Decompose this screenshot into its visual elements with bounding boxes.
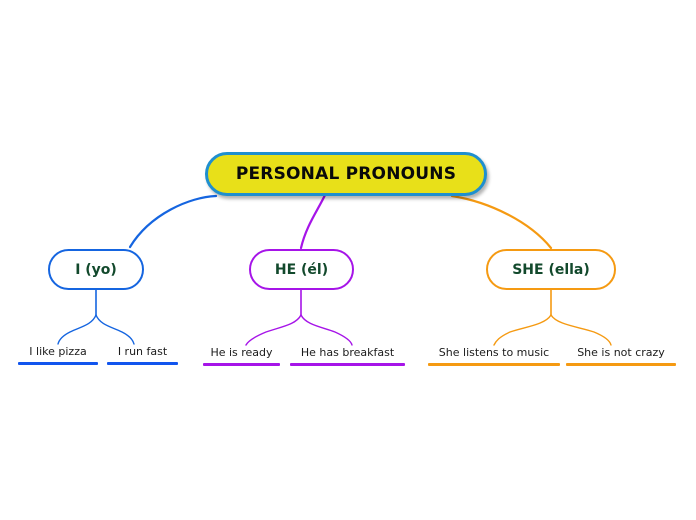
edge-root-to-he — [301, 195, 325, 248]
leaf-node-she-listens-to-music[interactable]: She listens to music — [428, 346, 560, 366]
branch-node-she[interactable]: SHE (ella) — [486, 249, 616, 290]
branch-node-i[interactable]: I (yo) — [48, 249, 144, 290]
edge-she-to-leaf-1 — [494, 315, 551, 345]
edge-root-to-i — [130, 196, 216, 247]
edge-i-to-leaf-2 — [96, 315, 134, 344]
leaf-node-label: She is not crazy — [577, 346, 665, 360]
leaf-node-i-like-pizza[interactable]: I like pizza — [18, 345, 98, 365]
leaf-node-label: She listens to music — [439, 346, 549, 360]
leaf-node-label: I like pizza — [29, 345, 86, 359]
leaf-underline-bar — [107, 362, 178, 365]
leaf-node-label: He is ready — [210, 346, 272, 360]
edge-he-to-leaf-1 — [246, 315, 301, 345]
leaf-node-i-run-fast[interactable]: I run fast — [107, 345, 178, 365]
edge-he-to-leaf-2 — [301, 315, 352, 345]
leaf-underline-bar — [428, 363, 560, 366]
branch-node-label: I (yo) — [75, 262, 117, 278]
branch-node-he[interactable]: HE (él) — [249, 249, 354, 290]
leaf-node-she-is-not-crazy[interactable]: She is not crazy — [566, 346, 676, 366]
edge-she-to-leaf-2 — [551, 315, 611, 345]
edge-i-to-leaf-1 — [58, 315, 96, 344]
leaf-node-label: He has breakfast — [301, 346, 394, 360]
branch-node-label: HE (él) — [275, 262, 328, 278]
leaf-node-label: I run fast — [118, 345, 167, 359]
leaf-underline-bar — [203, 363, 280, 366]
root-node-label: PERSONAL PRONOUNS — [236, 164, 456, 184]
mindmap-canvas: PERSONAL PRONOUNS I (yo) I like pizza I … — [0, 0, 696, 520]
root-node-personal-pronouns[interactable]: PERSONAL PRONOUNS — [205, 152, 487, 196]
leaf-node-he-has-breakfast[interactable]: He has breakfast — [290, 346, 405, 366]
edge-root-to-she — [452, 196, 551, 248]
leaf-underline-bar — [290, 363, 405, 366]
leaf-underline-bar — [566, 363, 676, 366]
leaf-node-he-is-ready[interactable]: He is ready — [203, 346, 280, 366]
leaf-underline-bar — [18, 362, 98, 365]
branch-node-label: SHE (ella) — [512, 262, 590, 278]
